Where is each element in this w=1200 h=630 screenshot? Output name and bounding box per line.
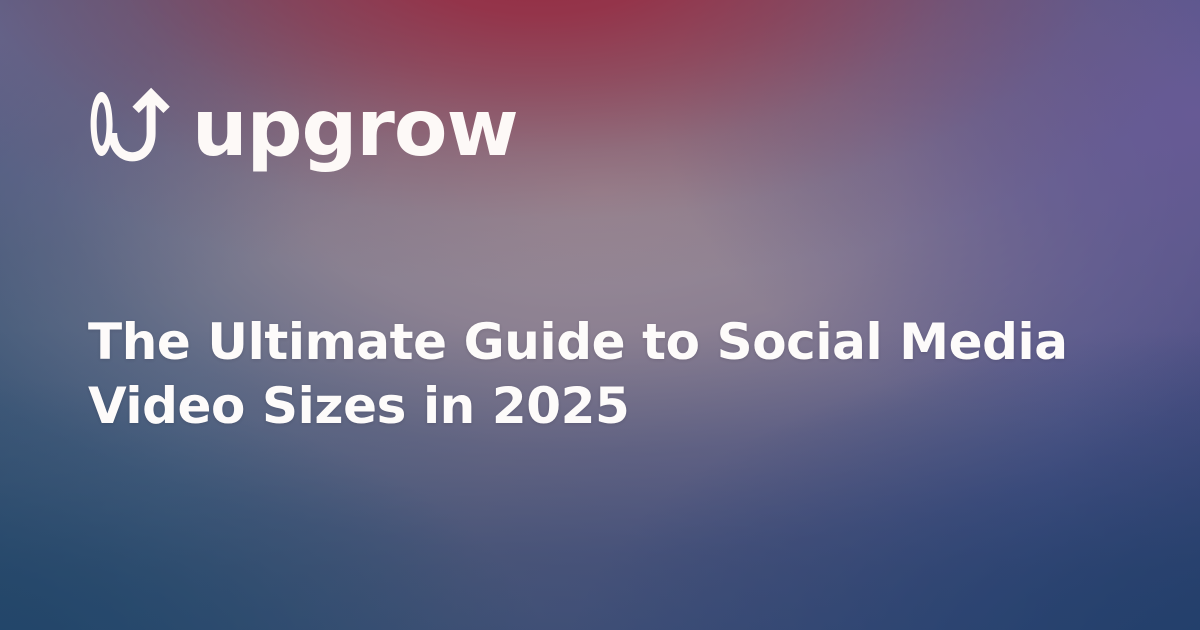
brand-wordmark: upgrow: [192, 90, 518, 168]
card-content: upgrow The Ultimate Guide to Social Medi…: [0, 0, 1200, 630]
page-title-line-2: Video Sizes in 2025: [88, 374, 1112, 438]
brand-logo[interactable]: upgrow: [88, 84, 1112, 170]
arrow-loop-u-icon: [88, 87, 172, 167]
page-title-line-1: The Ultimate Guide to Social Media: [88, 310, 1112, 374]
page-title: The Ultimate Guide to Social Media Video…: [88, 310, 1112, 438]
og-social-card: upgrow The Ultimate Guide to Social Medi…: [0, 0, 1200, 630]
headline-block: The Ultimate Guide to Social Media Video…: [88, 310, 1112, 438]
